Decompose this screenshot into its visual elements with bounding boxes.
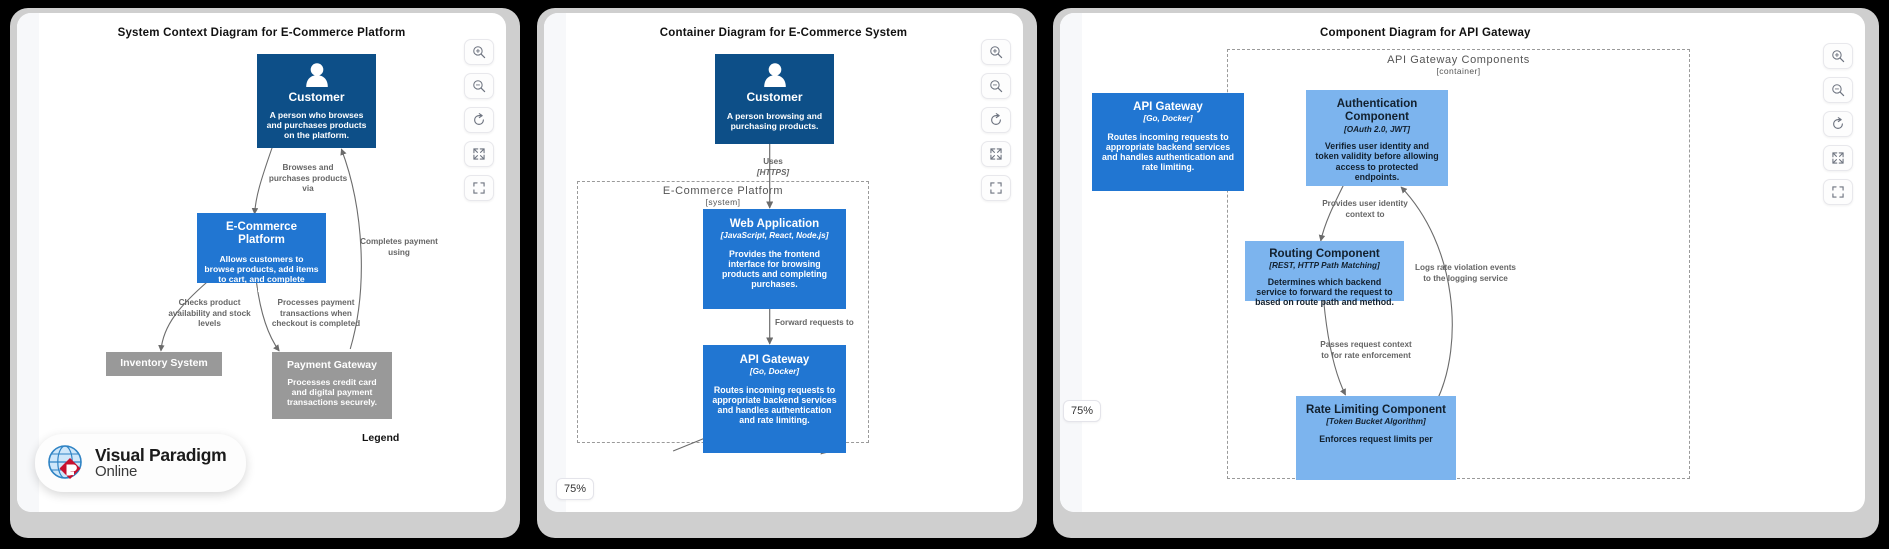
zoom-toolbar xyxy=(464,39,494,201)
edge-label-checks-product: Checks product availability and stock le… xyxy=(162,298,257,330)
expand-arrows-icon xyxy=(989,147,1003,161)
node-description: Enforces request limits per xyxy=(1303,434,1449,444)
page-title: Component Diagram for API Gateway xyxy=(1060,27,1865,39)
node-title: API Gateway xyxy=(1099,101,1237,114)
reset-button[interactable] xyxy=(1823,111,1853,137)
fullscreen-button[interactable] xyxy=(464,175,494,201)
watermark-line1: Visual Paradigm xyxy=(95,447,226,465)
zoom-in-button[interactable] xyxy=(1823,43,1853,69)
zoom-out-icon xyxy=(1831,83,1845,97)
fullscreen-button[interactable] xyxy=(1823,179,1853,205)
reset-button[interactable] xyxy=(981,107,1011,133)
node-api-gateway[interactable]: API Gateway [Go, Docker] Routes incoming… xyxy=(703,345,846,453)
node-description: Routes incoming requests to appropriate … xyxy=(710,385,839,426)
edge-label-browses: Browses and purchases products via xyxy=(263,163,353,195)
node-title: Routing Component xyxy=(1252,248,1397,261)
node-technology: [OAuth 2.0, JWT] xyxy=(1313,125,1441,135)
edge-label-processes-payment: Processes payment transactions when chec… xyxy=(270,298,362,330)
zoom-out-button[interactable] xyxy=(464,73,494,99)
node-api-gateway[interactable]: API Gateway [Go, Docker] Routes incoming… xyxy=(1092,93,1244,191)
fullscreen-frame-icon xyxy=(1831,185,1845,199)
node-payment-gateway[interactable]: Payment Gateway Processes credit card an… xyxy=(272,352,392,419)
fit-to-screen-button[interactable] xyxy=(464,141,494,167)
node-title: Inventory System xyxy=(113,357,215,369)
node-title: Customer xyxy=(264,91,369,105)
zoom-out-icon xyxy=(989,79,1003,93)
node-technology: [Go, Docker] xyxy=(1099,114,1237,124)
diagram-card-component: Component Diagram for API Gateway API Ga… xyxy=(1053,8,1879,538)
node-title: E-Commerce Platform xyxy=(204,221,319,248)
node-rate-limiting-component[interactable]: Rate Limiting Component [Token Bucket Al… xyxy=(1296,396,1456,480)
node-ecommerce-platform[interactable]: E-Commerce Platform Allows customers to … xyxy=(197,213,326,283)
globe-diamond-logo-icon xyxy=(45,441,89,485)
zoom-out-button[interactable] xyxy=(1823,77,1853,103)
node-technology: [REST, HTTP Path Matching] xyxy=(1252,261,1397,271)
fullscreen-frame-icon xyxy=(989,181,1003,195)
fit-to-screen-button[interactable] xyxy=(1823,145,1853,171)
edge-label-uses: Uses [HTTPS] xyxy=(736,157,810,178)
legend-label: Legend xyxy=(362,432,399,444)
fullscreen-frame-icon xyxy=(472,181,486,195)
diagram-canvas-system-context[interactable]: System Context Diagram for E-Commerce Pl… xyxy=(17,13,506,512)
edge-label-completes-payment: Completes payment using xyxy=(353,237,445,258)
zoom-out-icon xyxy=(472,79,486,93)
diagram-viewport-component[interactable]: Component Diagram for API Gateway API Ga… xyxy=(1060,13,1865,512)
node-customer[interactable]: Customer A person who browses and purcha… xyxy=(257,54,376,148)
zoom-level-badge[interactable]: 75% xyxy=(556,478,594,500)
zoom-in-icon xyxy=(989,45,1003,59)
diagram-canvas-container[interactable]: Container Diagram for E-Commerce System … xyxy=(544,13,1023,512)
zoom-toolbar xyxy=(1823,43,1853,205)
zoom-out-button[interactable] xyxy=(981,73,1011,99)
diagram-viewport-system-context[interactable]: System Context Diagram for E-Commerce Pl… xyxy=(17,13,506,512)
node-customer[interactable]: Customer A person browsing and purchasin… xyxy=(715,54,834,144)
node-description: Routes incoming requests to appropriate … xyxy=(1099,132,1237,173)
node-technology: [Go, Docker] xyxy=(710,367,839,377)
fullscreen-button[interactable] xyxy=(981,175,1011,201)
node-title: Customer xyxy=(722,91,827,105)
node-technology: [Token Bucket Algorithm] xyxy=(1303,417,1449,427)
edge-label-passes-request: Passes request context to for rate enfor… xyxy=(1318,340,1414,361)
edge-label-logs-rate-violation: Logs rate violation events to the loggin… xyxy=(1413,263,1518,284)
node-description: A person browsing and purchasing product… xyxy=(722,112,827,132)
expand-arrows-icon xyxy=(1831,151,1845,165)
zoom-in-button[interactable] xyxy=(981,39,1011,65)
diagram-canvas-component[interactable]: Component Diagram for API Gateway API Ga… xyxy=(1060,13,1865,512)
node-technology: [JavaScript, React, Node.js] xyxy=(710,231,839,241)
diagram-card-system-context: System Context Diagram for E-Commerce Pl… xyxy=(10,8,520,538)
zoom-in-icon xyxy=(1831,49,1845,63)
node-authentication-component[interactable]: Authentication Component [OAuth 2.0, JWT… xyxy=(1306,90,1448,186)
node-description: Processes credit card and digital paymen… xyxy=(279,378,385,408)
edge-label-provides-identity: Provides user identity context to xyxy=(1310,199,1420,220)
page-title: Container Diagram for E-Commerce System xyxy=(544,27,1023,39)
fit-to-screen-button[interactable] xyxy=(981,141,1011,167)
watermark-text: Visual Paradigm Online xyxy=(95,447,226,480)
zoom-level-badge[interactable]: 75% xyxy=(1063,400,1101,422)
node-title: Payment Gateway xyxy=(279,359,385,371)
expand-arrows-icon xyxy=(472,147,486,161)
node-title: Rate Limiting Component xyxy=(1303,404,1449,417)
node-description: Determines which backend service to forw… xyxy=(1252,277,1397,308)
screenshot-stage: System Context Diagram for E-Commerce Pl… xyxy=(0,0,1889,549)
node-routing-component[interactable]: Routing Component [REST, HTTP Path Match… xyxy=(1245,241,1404,301)
edge-label-forward-requests: Forward requests to xyxy=(775,318,875,329)
node-web-application[interactable]: Web Application [JavaScript, React, Node… xyxy=(703,209,846,309)
reset-rotate-icon xyxy=(1831,117,1845,131)
node-description: A person who browses and purchases produ… xyxy=(264,111,369,141)
node-title: API Gateway xyxy=(710,354,839,367)
node-description: Provides the frontend interface for brow… xyxy=(710,249,839,290)
reset-rotate-icon xyxy=(472,113,486,127)
node-description: Allows customers to browse products, add… xyxy=(204,255,319,295)
person-icon xyxy=(303,62,331,88)
watermark-line2: Online xyxy=(95,464,226,479)
reset-button[interactable] xyxy=(464,107,494,133)
node-title: Authentication Component xyxy=(1313,98,1441,125)
zoom-in-icon xyxy=(472,45,486,59)
visual-paradigm-watermark: Visual Paradigm Online xyxy=(35,434,246,492)
diagram-card-container: Container Diagram for E-Commerce System … xyxy=(537,8,1037,538)
node-inventory-system[interactable]: Inventory System xyxy=(106,352,222,376)
diagram-viewport-container[interactable]: Container Diagram for E-Commerce System … xyxy=(544,13,1023,512)
zoom-in-button[interactable] xyxy=(464,39,494,65)
node-title: Web Application xyxy=(710,218,839,231)
node-description: Verifies user identity and token validit… xyxy=(1313,141,1441,182)
reset-rotate-icon xyxy=(989,113,1003,127)
page-title: System Context Diagram for E-Commerce Pl… xyxy=(17,27,506,39)
person-icon xyxy=(761,62,789,88)
zoom-toolbar xyxy=(981,39,1011,201)
